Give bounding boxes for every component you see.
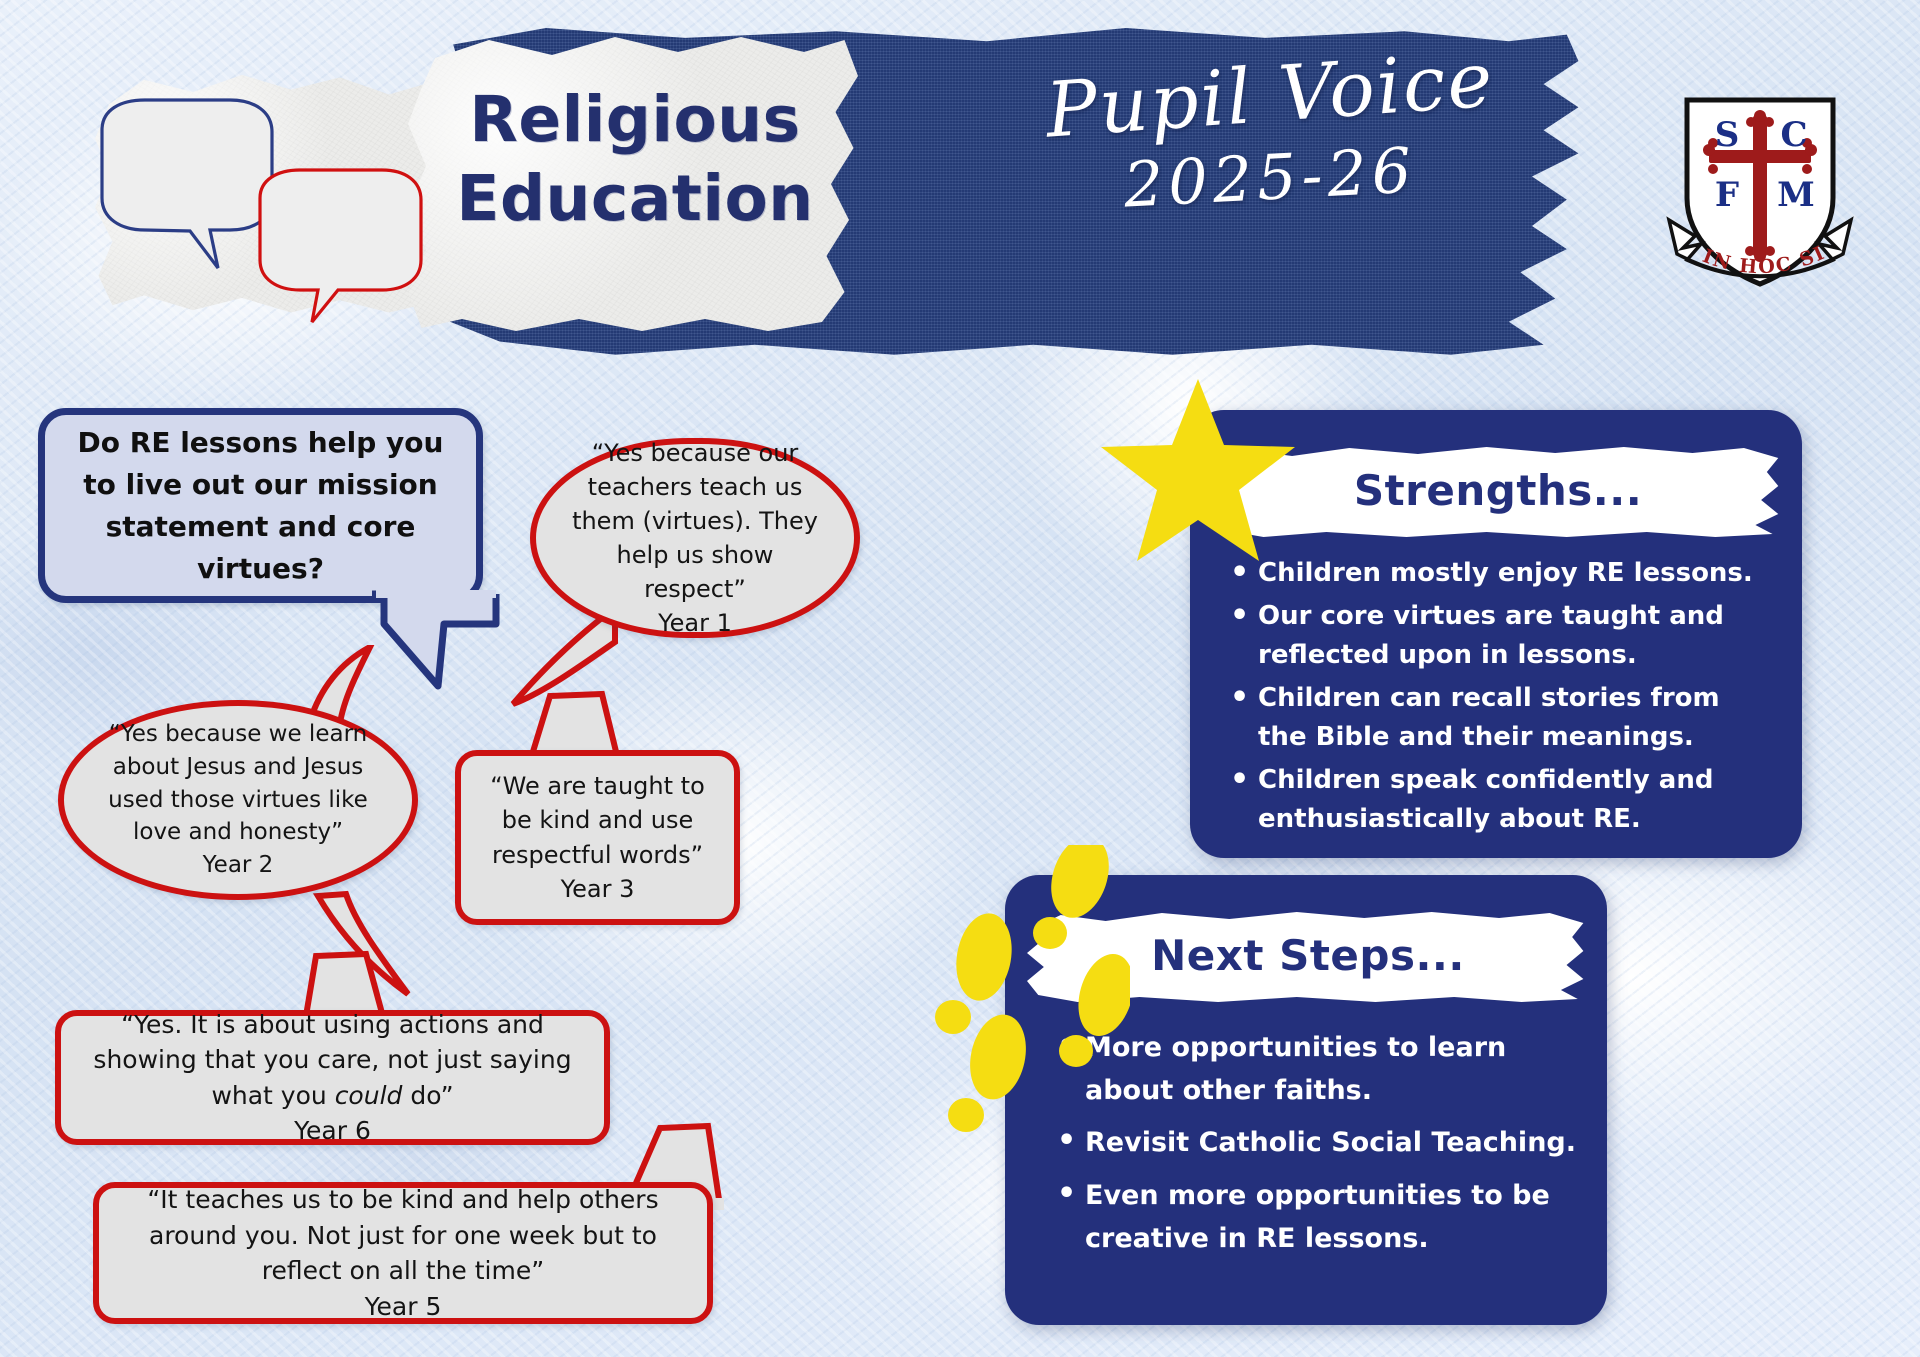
decorative-speech-bubbles — [90, 90, 430, 330]
question-text: Do RE lessons help you to live out our m… — [67, 422, 454, 590]
list-item: Even more opportunities to be creative i… — [1057, 1175, 1581, 1260]
quote-text-year3: “We are taught to be kind and use respec… — [490, 772, 705, 868]
quote-year-year2: Year 2 — [203, 852, 274, 878]
quote-text-year5: “It teaches us to be kind and help other… — [147, 1185, 658, 1285]
list-item: Children can recall stories from the Bib… — [1230, 679, 1776, 757]
decorative-speech-bubble-navy — [102, 100, 272, 268]
quote-bubble-year3: “We are taught to be kind and use respec… — [455, 750, 740, 925]
crest-letter-c: C — [1780, 115, 1807, 155]
quote-text-year6-emphasis: could — [335, 1081, 403, 1110]
question-speech-bubble: Do RE lessons help you to live out our m… — [38, 408, 483, 603]
page-title-line2: Education — [420, 159, 850, 238]
quote-bubble-year6: “Yes. It is about using actions and show… — [55, 1010, 610, 1145]
quote-text-year6-before: “Yes. It is about using actions and show… — [93, 1010, 571, 1110]
strengths-list: Children mostly enjoy RE lessons. Our co… — [1230, 554, 1776, 839]
page-title-line1: Religious — [420, 80, 850, 159]
footprints-icon — [920, 845, 1130, 1135]
quote-text-year1: “Yes because our teachers teach us them … — [572, 439, 818, 603]
poster-header: Religious Education Pupil Voice 2025-26 … — [0, 0, 1920, 380]
question-bubble-tail — [370, 590, 500, 700]
crest-letter-m: M — [1777, 175, 1815, 215]
quote-year-year1: Year 1 — [658, 609, 732, 637]
crest-letter-s: S — [1715, 115, 1740, 155]
quote-text-year2: “Yes because we learn about Jesus and Je… — [108, 721, 368, 845]
school-crest: S C F M IN HOC SIGNO — [1665, 88, 1855, 293]
decorative-speech-bubble-red — [260, 170, 421, 322]
quote-bubble-year5: “It teaches us to be kind and help other… — [93, 1182, 713, 1324]
subtitle-script: Pupil Voice 2025-26 — [1000, 55, 1540, 215]
next-steps-list: More opportunities to learn about other … — [1057, 1027, 1581, 1260]
page-title: Religious Education — [420, 80, 850, 239]
star-icon — [1098, 375, 1298, 570]
quote-bubble-year2: “Yes because we learn about Jesus and Je… — [58, 700, 418, 900]
quote-year-year6: Year 6 — [294, 1116, 371, 1145]
quote-year-year3: Year 3 — [561, 875, 635, 903]
list-item: Our core virtues are taught and reflecte… — [1230, 597, 1776, 675]
footprint-shape — [935, 845, 1130, 1132]
quote-bubble-year1: “Yes because our teachers teach us them … — [530, 438, 860, 638]
list-item: Children speak confidently and enthusias… — [1230, 761, 1776, 839]
list-item: More opportunities to learn about other … — [1057, 1027, 1581, 1112]
crest-letter-f: F — [1715, 175, 1739, 215]
list-item: Revisit Catholic Social Teaching. — [1057, 1122, 1581, 1165]
quote-year-year5: Year 5 — [365, 1292, 442, 1321]
quote-text-year6-after: do” — [402, 1081, 453, 1110]
list-item: Children mostly enjoy RE lessons. — [1230, 554, 1776, 593]
